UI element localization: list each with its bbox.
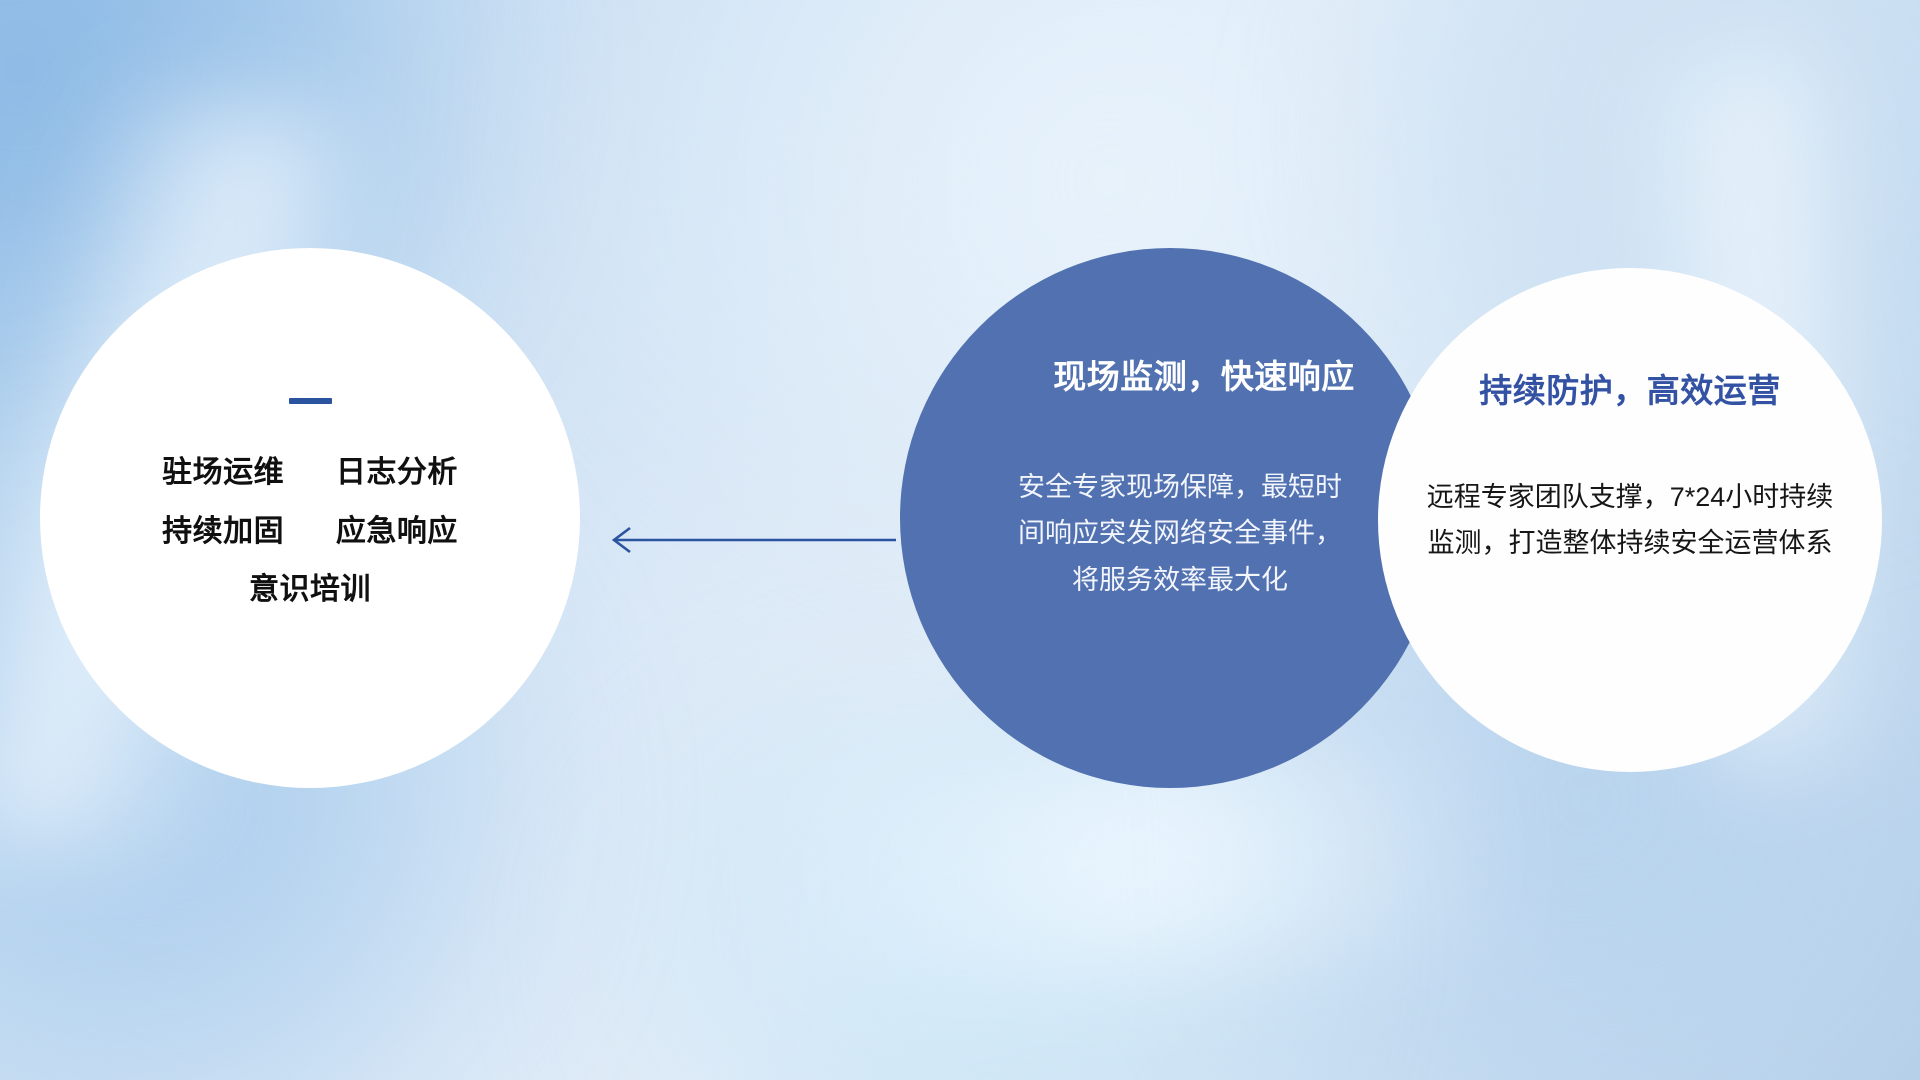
keyword-label: 应急响应	[336, 515, 458, 548]
capability-circle-right[interactable]: 持续防护，高效运营 远程专家团队支撑，7*24小时持续监测，打造整体持续安全运营…	[1378, 268, 1882, 772]
circle-right-body: 远程专家团队支撑，7*24小时持续监测，打造整体持续安全运营体系	[1420, 474, 1840, 567]
keyword-label: 持续加固	[162, 515, 284, 548]
keyword-row: 意识培训	[162, 561, 458, 620]
keyword-label: 意识培训	[249, 573, 371, 606]
capability-circle-left[interactable]: 驻场运维 日志分析 持续加固 应急响应 意识培训	[40, 248, 580, 788]
capability-circle-middle[interactable]: 现场监测，快速响应 安全专家现场保障，最短时间响应突发网络安全事件，将服务效率最…	[900, 248, 1440, 788]
capability-keyword-list: 驻场运维 日志分析 持续加固 应急响应 意识培训	[162, 444, 458, 620]
circle-middle-heading: 现场监测，快速响应	[1053, 350, 1355, 398]
accent-dash-divider	[289, 398, 332, 404]
circle-middle-body: 安全专家现场保障，最短时间响应突发网络安全事件，将服务效率最大化	[1015, 464, 1345, 603]
keyword-label: 日志分析	[336, 456, 458, 489]
keyword-row: 驻场运维 日志分析	[162, 444, 458, 503]
flow-arrow-left-icon	[600, 520, 900, 560]
keyword-label: 驻场运维	[162, 456, 284, 489]
keyword-row: 持续加固 应急响应	[162, 503, 458, 562]
slide-canvas: 驻场运维 日志分析 持续加固 应急响应 意识培训 现场监测，快速响应 安全专家现…	[0, 0, 1920, 1080]
circle-right-heading: 持续防护，高效运营	[1479, 364, 1781, 412]
